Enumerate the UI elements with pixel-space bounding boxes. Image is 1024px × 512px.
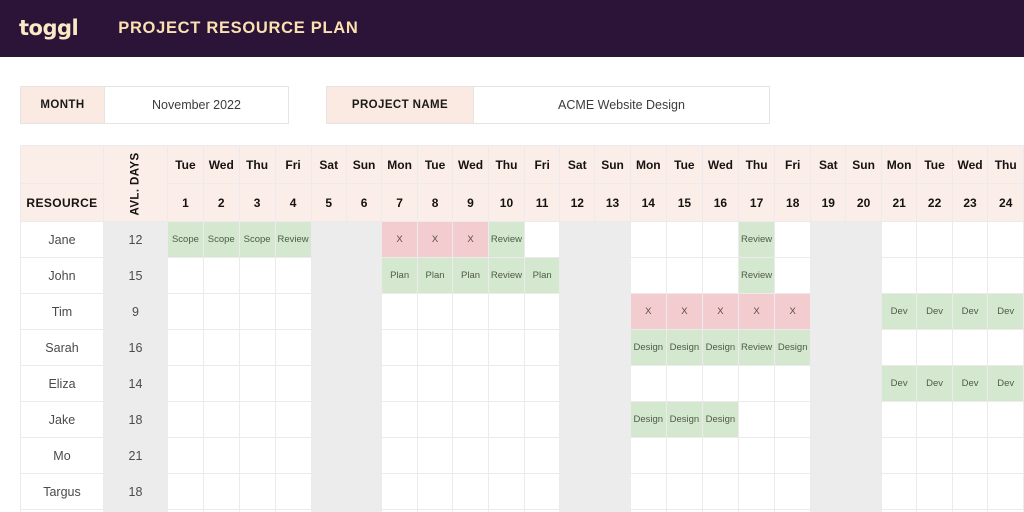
- schedule-cell[interactable]: Review: [738, 258, 774, 294]
- schedule-cell[interactable]: [168, 366, 204, 402]
- schedule-cell[interactable]: [453, 402, 489, 438]
- schedule-cell[interactable]: [846, 222, 881, 258]
- schedule-cell[interactable]: [203, 258, 239, 294]
- day-number-header-22: 22: [917, 184, 952, 222]
- schedule-cell[interactable]: [168, 330, 204, 366]
- table-row: Targus18: [21, 474, 1024, 510]
- schedule-cell[interactable]: [239, 402, 275, 438]
- schedule-cell[interactable]: [488, 438, 524, 474]
- day-of-week-header-19: Sat: [811, 146, 846, 184]
- schedule-cell[interactable]: [488, 474, 524, 510]
- resource-name-cell[interactable]: Sarah: [21, 330, 104, 366]
- day-number-header-1: 1: [168, 184, 204, 222]
- schedule-cell[interactable]: [453, 294, 489, 330]
- schedule-cell[interactable]: [560, 294, 595, 330]
- schedule-cell[interactable]: [203, 366, 239, 402]
- schedule-cell[interactable]: [881, 222, 917, 258]
- schedule-cell[interactable]: [917, 474, 952, 510]
- schedule-cell[interactable]: [275, 474, 311, 510]
- schedule-cell[interactable]: [881, 402, 917, 438]
- day-of-week-header-6: Sun: [346, 146, 381, 184]
- resource-name-cell[interactable]: Targus: [21, 474, 104, 510]
- schedule-cell[interactable]: [917, 438, 952, 474]
- schedule-cell[interactable]: Review: [738, 222, 774, 258]
- schedule-cell[interactable]: [846, 366, 881, 402]
- schedule-cell[interactable]: [666, 222, 702, 258]
- schedule-cell[interactable]: [417, 438, 452, 474]
- schedule-cell[interactable]: Design: [702, 402, 738, 438]
- month-field-label: MONTH: [21, 87, 105, 123]
- schedule-cell[interactable]: X: [453, 222, 489, 258]
- avl-days-header-label: AVL. DAYS: [129, 152, 141, 215]
- schedule-cell[interactable]: [595, 474, 630, 510]
- schedule-cell[interactable]: [346, 438, 381, 474]
- schedule-cell[interactable]: [666, 258, 702, 294]
- schedule-cell[interactable]: [275, 330, 311, 366]
- day-number-header-20: 20: [846, 184, 881, 222]
- schedule-cell[interactable]: Design: [630, 402, 666, 438]
- schedule-cell[interactable]: [988, 438, 1024, 474]
- schedule-cell[interactable]: [525, 366, 560, 402]
- schedule-cell[interactable]: [346, 330, 381, 366]
- day-of-week-header-15: Tue: [666, 146, 702, 184]
- day-of-week-header-7: Mon: [382, 146, 418, 184]
- schedule-cell[interactable]: [952, 222, 988, 258]
- day-number-header-15: 15: [666, 184, 702, 222]
- schedule-cell[interactable]: [560, 474, 595, 510]
- table-row: Jake18DesignDesignDesign: [21, 402, 1024, 438]
- plan-table-body: Jane12ScopeScopeScopeReviewXXXReviewRevi…: [21, 222, 1024, 512]
- schedule-cell[interactable]: [525, 222, 560, 258]
- day-number-header-16: 16: [702, 184, 738, 222]
- schedule-cell[interactable]: [988, 474, 1024, 510]
- schedule-cell[interactable]: [666, 474, 702, 510]
- schedule-cell[interactable]: [168, 294, 204, 330]
- schedule-cell[interactable]: [775, 402, 811, 438]
- schedule-cell[interactable]: [560, 222, 595, 258]
- day-of-week-header-20: Sun: [846, 146, 881, 184]
- day-number-header-9: 9: [453, 184, 489, 222]
- schedule-cell[interactable]: Scope: [239, 222, 275, 258]
- schedule-cell[interactable]: [560, 366, 595, 402]
- schedule-cell[interactable]: [630, 258, 666, 294]
- avl-days-cell[interactable]: 9: [103, 294, 167, 330]
- schedule-cell[interactable]: [775, 258, 811, 294]
- day-number-header-7: 7: [382, 184, 418, 222]
- schedule-cell[interactable]: [239, 294, 275, 330]
- app-header: toggl PROJECT RESOURCE PLAN: [0, 0, 1024, 57]
- schedule-cell[interactable]: Dev: [881, 294, 917, 330]
- resource-name-cell[interactable]: John: [21, 258, 104, 294]
- schedule-cell[interactable]: [666, 438, 702, 474]
- schedule-cell[interactable]: [382, 438, 418, 474]
- schedule-cell[interactable]: [525, 474, 560, 510]
- schedule-cell[interactable]: [595, 294, 630, 330]
- day-number-header-18: 18: [775, 184, 811, 222]
- schedule-cell[interactable]: [203, 294, 239, 330]
- schedule-cell[interactable]: [666, 366, 702, 402]
- schedule-cell[interactable]: Dev: [917, 366, 952, 402]
- schedule-cell[interactable]: [239, 330, 275, 366]
- day-number-header-24: 24: [988, 184, 1024, 222]
- schedule-cell[interactable]: X: [666, 294, 702, 330]
- schedule-cell[interactable]: [702, 222, 738, 258]
- schedule-cell[interactable]: [382, 294, 418, 330]
- schedule-cell[interactable]: [275, 294, 311, 330]
- schedule-cell[interactable]: [775, 474, 811, 510]
- day-number-header-3: 3: [239, 184, 275, 222]
- schedule-cell[interactable]: [738, 438, 774, 474]
- schedule-cell[interactable]: [168, 474, 204, 510]
- schedule-cell[interactable]: X: [775, 294, 811, 330]
- table-row: Eliza14DevDevDevDev: [21, 366, 1024, 402]
- schedule-cell[interactable]: [595, 258, 630, 294]
- schedule-cell[interactable]: [595, 438, 630, 474]
- schedule-cell[interactable]: X: [702, 294, 738, 330]
- day-number-header-10: 10: [488, 184, 524, 222]
- schedule-cell[interactable]: [738, 474, 774, 510]
- toggl-logo: toggl: [19, 18, 78, 39]
- day-of-week-header-9: Wed: [453, 146, 489, 184]
- page-title: PROJECT RESOURCE PLAN: [118, 19, 358, 38]
- schedule-cell[interactable]: [595, 366, 630, 402]
- day-number-header-row: RESOURCE 1234567891011121314151617181920…: [21, 184, 1024, 222]
- schedule-cell[interactable]: [168, 438, 204, 474]
- day-number-header-14: 14: [630, 184, 666, 222]
- schedule-cell[interactable]: Dev: [988, 294, 1024, 330]
- schedule-cell[interactable]: [239, 474, 275, 510]
- schedule-cell[interactable]: [811, 258, 846, 294]
- schedule-cell[interactable]: [311, 402, 346, 438]
- schedule-cell[interactable]: [203, 438, 239, 474]
- schedule-cell[interactable]: [453, 366, 489, 402]
- schedule-cell[interactable]: [881, 258, 917, 294]
- schedule-cell[interactable]: Dev: [952, 294, 988, 330]
- table-row: Sarah16DesignDesignDesignReviewDesign: [21, 330, 1024, 366]
- schedule-cell[interactable]: [811, 330, 846, 366]
- schedule-cell[interactable]: [203, 330, 239, 366]
- schedule-cell[interactable]: [988, 330, 1024, 366]
- schedule-cell[interactable]: [311, 258, 346, 294]
- schedule-cell[interactable]: [846, 330, 881, 366]
- schedule-cell[interactable]: Review: [738, 330, 774, 366]
- schedule-cell[interactable]: [382, 474, 418, 510]
- schedule-cell[interactable]: [775, 366, 811, 402]
- schedule-cell[interactable]: [917, 402, 952, 438]
- schedule-cell[interactable]: Dev: [952, 366, 988, 402]
- schedule-cell[interactable]: Scope: [168, 222, 204, 258]
- schedule-cell[interactable]: [952, 330, 988, 366]
- schedule-cell[interactable]: Dev: [917, 294, 952, 330]
- schedule-cell[interactable]: [595, 330, 630, 366]
- avl-days-cell[interactable]: 15: [103, 258, 167, 294]
- schedule-cell[interactable]: [346, 222, 381, 258]
- meta-fields-row: MONTH November 2022 PROJECT NAME ACME We…: [0, 57, 1024, 135]
- schedule-cell[interactable]: [988, 222, 1024, 258]
- schedule-cell[interactable]: [952, 402, 988, 438]
- schedule-cell[interactable]: X: [417, 222, 452, 258]
- schedule-cell[interactable]: [453, 474, 489, 510]
- schedule-cell[interactable]: Scope: [203, 222, 239, 258]
- schedule-cell[interactable]: [311, 294, 346, 330]
- schedule-cell[interactable]: [702, 258, 738, 294]
- schedule-cell[interactable]: [488, 294, 524, 330]
- schedule-cell[interactable]: [846, 402, 881, 438]
- schedule-cell[interactable]: [811, 438, 846, 474]
- schedule-cell[interactable]: [417, 330, 452, 366]
- schedule-cell[interactable]: [630, 222, 666, 258]
- day-of-week-header-12: Sat: [560, 146, 595, 184]
- schedule-cell[interactable]: [346, 294, 381, 330]
- schedule-cell[interactable]: [275, 366, 311, 402]
- schedule-cell[interactable]: Design: [666, 330, 702, 366]
- table-row: Jane12ScopeScopeScopeReviewXXXReviewRevi…: [21, 222, 1024, 258]
- schedule-cell[interactable]: [346, 474, 381, 510]
- resource-header: RESOURCE: [21, 184, 104, 222]
- day-of-week-header-13: Sun: [595, 146, 630, 184]
- schedule-cell[interactable]: Design: [666, 402, 702, 438]
- day-of-week-header-10: Thu: [488, 146, 524, 184]
- project-name-field-label: PROJECT NAME: [327, 87, 474, 123]
- schedule-cell[interactable]: [811, 366, 846, 402]
- day-of-week-header-21: Mon: [881, 146, 917, 184]
- schedule-cell[interactable]: [560, 438, 595, 474]
- schedule-cell[interactable]: [881, 474, 917, 510]
- day-of-week-header-22: Tue: [917, 146, 952, 184]
- schedule-cell[interactable]: Dev: [881, 366, 917, 402]
- schedule-cell[interactable]: X: [630, 294, 666, 330]
- schedule-cell[interactable]: [453, 330, 489, 366]
- schedule-cell[interactable]: [846, 258, 881, 294]
- schedule-cell[interactable]: [417, 402, 452, 438]
- day-of-week-header-8: Tue: [417, 146, 452, 184]
- day-of-week-header-24: Thu: [988, 146, 1024, 184]
- schedule-cell[interactable]: Review: [488, 222, 524, 258]
- day-of-week-header-3: Thu: [239, 146, 275, 184]
- schedule-cell[interactable]: [311, 366, 346, 402]
- schedule-cell[interactable]: [239, 366, 275, 402]
- day-of-week-header-18: Fri: [775, 146, 811, 184]
- schedule-cell[interactable]: [525, 294, 560, 330]
- schedule-cell[interactable]: [488, 330, 524, 366]
- schedule-cell[interactable]: [275, 438, 311, 474]
- schedule-cell[interactable]: [382, 402, 418, 438]
- resource-name-cell[interactable]: Jane: [21, 222, 104, 258]
- schedule-cell[interactable]: Design: [775, 330, 811, 366]
- schedule-cell[interactable]: [417, 366, 452, 402]
- schedule-cell[interactable]: [775, 222, 811, 258]
- schedule-cell[interactable]: [811, 474, 846, 510]
- day-of-week-header-16: Wed: [702, 146, 738, 184]
- day-number-header-19: 19: [811, 184, 846, 222]
- schedule-cell[interactable]: [560, 402, 595, 438]
- schedule-cell[interactable]: [811, 402, 846, 438]
- schedule-cell[interactable]: [811, 222, 846, 258]
- day-number-header-8: 8: [417, 184, 452, 222]
- schedule-cell[interactable]: Plan: [453, 258, 489, 294]
- resource-name-cell[interactable]: Jake: [21, 402, 104, 438]
- schedule-cell[interactable]: X: [738, 294, 774, 330]
- day-number-header-11: 11: [525, 184, 560, 222]
- day-of-week-header-5: Sat: [311, 146, 346, 184]
- schedule-cell[interactable]: [595, 402, 630, 438]
- schedule-cell[interactable]: [630, 474, 666, 510]
- schedule-cell[interactable]: [239, 258, 275, 294]
- schedule-cell[interactable]: [846, 438, 881, 474]
- schedule-cell[interactable]: [988, 402, 1024, 438]
- resource-name-cell[interactable]: Mo: [21, 438, 104, 474]
- day-of-week-header-23: Wed: [952, 146, 988, 184]
- schedule-cell[interactable]: [488, 402, 524, 438]
- schedule-cell[interactable]: [275, 258, 311, 294]
- table-row: Tim9XXXXXDevDevDevDev: [21, 294, 1024, 330]
- schedule-cell[interactable]: [453, 438, 489, 474]
- schedule-cell[interactable]: Review: [488, 258, 524, 294]
- day-of-week-header-1: Tue: [168, 146, 204, 184]
- schedule-cell[interactable]: [560, 258, 595, 294]
- day-of-week-header-2: Wed: [203, 146, 239, 184]
- schedule-cell[interactable]: [382, 330, 418, 366]
- schedule-cell[interactable]: [168, 258, 204, 294]
- resource-name-cell[interactable]: Eliza: [21, 366, 104, 402]
- avl-days-cell[interactable]: 16: [103, 330, 167, 366]
- schedule-cell[interactable]: [239, 438, 275, 474]
- schedule-cell[interactable]: X: [382, 222, 418, 258]
- schedule-cell[interactable]: [168, 402, 204, 438]
- schedule-cell[interactable]: Plan: [417, 258, 452, 294]
- schedule-cell[interactable]: [560, 330, 595, 366]
- avl-days-cell[interactable]: 18: [103, 474, 167, 510]
- schedule-cell[interactable]: [917, 222, 952, 258]
- schedule-cell[interactable]: [275, 402, 311, 438]
- day-of-week-header-row: AVL. DAYS TueWedThuFriSatSunMonTueWedThu…: [21, 146, 1024, 184]
- day-number-header-5: 5: [311, 184, 346, 222]
- schedule-cell[interactable]: [775, 438, 811, 474]
- schedule-cell[interactable]: [811, 294, 846, 330]
- schedule-cell[interactable]: [488, 366, 524, 402]
- schedule-cell[interactable]: [346, 402, 381, 438]
- schedule-cell[interactable]: Plan: [525, 258, 560, 294]
- schedule-cell[interactable]: [203, 474, 239, 510]
- schedule-cell[interactable]: Design: [702, 330, 738, 366]
- schedule-cell[interactable]: [917, 258, 952, 294]
- day-number-header-21: 21: [881, 184, 917, 222]
- schedule-cell[interactable]: [702, 438, 738, 474]
- schedule-cell[interactable]: [382, 366, 418, 402]
- schedule-cell[interactable]: [952, 258, 988, 294]
- schedule-cell[interactable]: [346, 258, 381, 294]
- schedule-cell[interactable]: [595, 222, 630, 258]
- schedule-cell[interactable]: [525, 402, 560, 438]
- avl-days-cell[interactable]: 12: [103, 222, 167, 258]
- resource-plan-table: AVL. DAYS TueWedThuFriSatSunMonTueWedThu…: [20, 145, 1024, 512]
- day-of-week-header-14: Mon: [630, 146, 666, 184]
- avl-days-cell[interactable]: 21: [103, 438, 167, 474]
- schedule-cell[interactable]: [988, 258, 1024, 294]
- schedule-cell[interactable]: Design: [630, 330, 666, 366]
- resource-name-cell[interactable]: Tim: [21, 294, 104, 330]
- schedule-cell[interactable]: [525, 330, 560, 366]
- schedule-cell[interactable]: [311, 438, 346, 474]
- corner-blank-cell: [21, 146, 104, 184]
- schedule-cell[interactable]: [311, 474, 346, 510]
- day-of-week-header-11: Fri: [525, 146, 560, 184]
- schedule-cell[interactable]: Dev: [988, 366, 1024, 402]
- table-row: John15PlanPlanPlanReviewPlanReview: [21, 258, 1024, 294]
- month-field[interactable]: MONTH November 2022: [20, 86, 289, 124]
- schedule-cell[interactable]: [702, 366, 738, 402]
- table-row: Mo21: [21, 438, 1024, 474]
- schedule-cell[interactable]: [630, 366, 666, 402]
- schedule-cell[interactable]: [846, 474, 881, 510]
- day-number-header-17: 17: [738, 184, 774, 222]
- schedule-cell[interactable]: [846, 294, 881, 330]
- schedule-cell[interactable]: [738, 366, 774, 402]
- schedule-cell[interactable]: [417, 294, 452, 330]
- schedule-cell[interactable]: [952, 438, 988, 474]
- schedule-cell[interactable]: [630, 438, 666, 474]
- day-of-week-header-4: Fri: [275, 146, 311, 184]
- avl-days-cell[interactable]: 18: [103, 402, 167, 438]
- schedule-cell[interactable]: [881, 438, 917, 474]
- schedule-cell[interactable]: [417, 474, 452, 510]
- schedule-cell[interactable]: [525, 438, 560, 474]
- schedule-cell[interactable]: [952, 474, 988, 510]
- schedule-cell[interactable]: [881, 330, 917, 366]
- project-name-field[interactable]: PROJECT NAME ACME Website Design: [326, 86, 770, 124]
- project-name-field-value[interactable]: ACME Website Design: [474, 87, 769, 123]
- schedule-cell[interactable]: [917, 330, 952, 366]
- resource-plan-grid-wrap: AVL. DAYS TueWedThuFriSatSunMonTueWedThu…: [0, 145, 1024, 512]
- schedule-cell[interactable]: [346, 366, 381, 402]
- plan-table-head: AVL. DAYS TueWedThuFriSatSunMonTueWedThu…: [21, 146, 1024, 222]
- schedule-cell[interactable]: [311, 330, 346, 366]
- avl-days-header: AVL. DAYS: [103, 146, 167, 222]
- schedule-cell[interactable]: [311, 222, 346, 258]
- day-number-header-4: 4: [275, 184, 311, 222]
- month-field-value[interactable]: November 2022: [105, 87, 288, 123]
- day-number-header-12: 12: [560, 184, 595, 222]
- avl-days-cell[interactable]: 14: [103, 366, 167, 402]
- day-number-header-2: 2: [203, 184, 239, 222]
- day-of-week-header-17: Thu: [738, 146, 774, 184]
- day-number-header-13: 13: [595, 184, 630, 222]
- schedule-cell[interactable]: [203, 402, 239, 438]
- day-number-header-23: 23: [952, 184, 988, 222]
- schedule-cell[interactable]: [738, 402, 774, 438]
- day-number-header-6: 6: [346, 184, 381, 222]
- schedule-cell[interactable]: Plan: [382, 258, 418, 294]
- schedule-cell[interactable]: Review: [275, 222, 311, 258]
- schedule-cell[interactable]: [702, 474, 738, 510]
